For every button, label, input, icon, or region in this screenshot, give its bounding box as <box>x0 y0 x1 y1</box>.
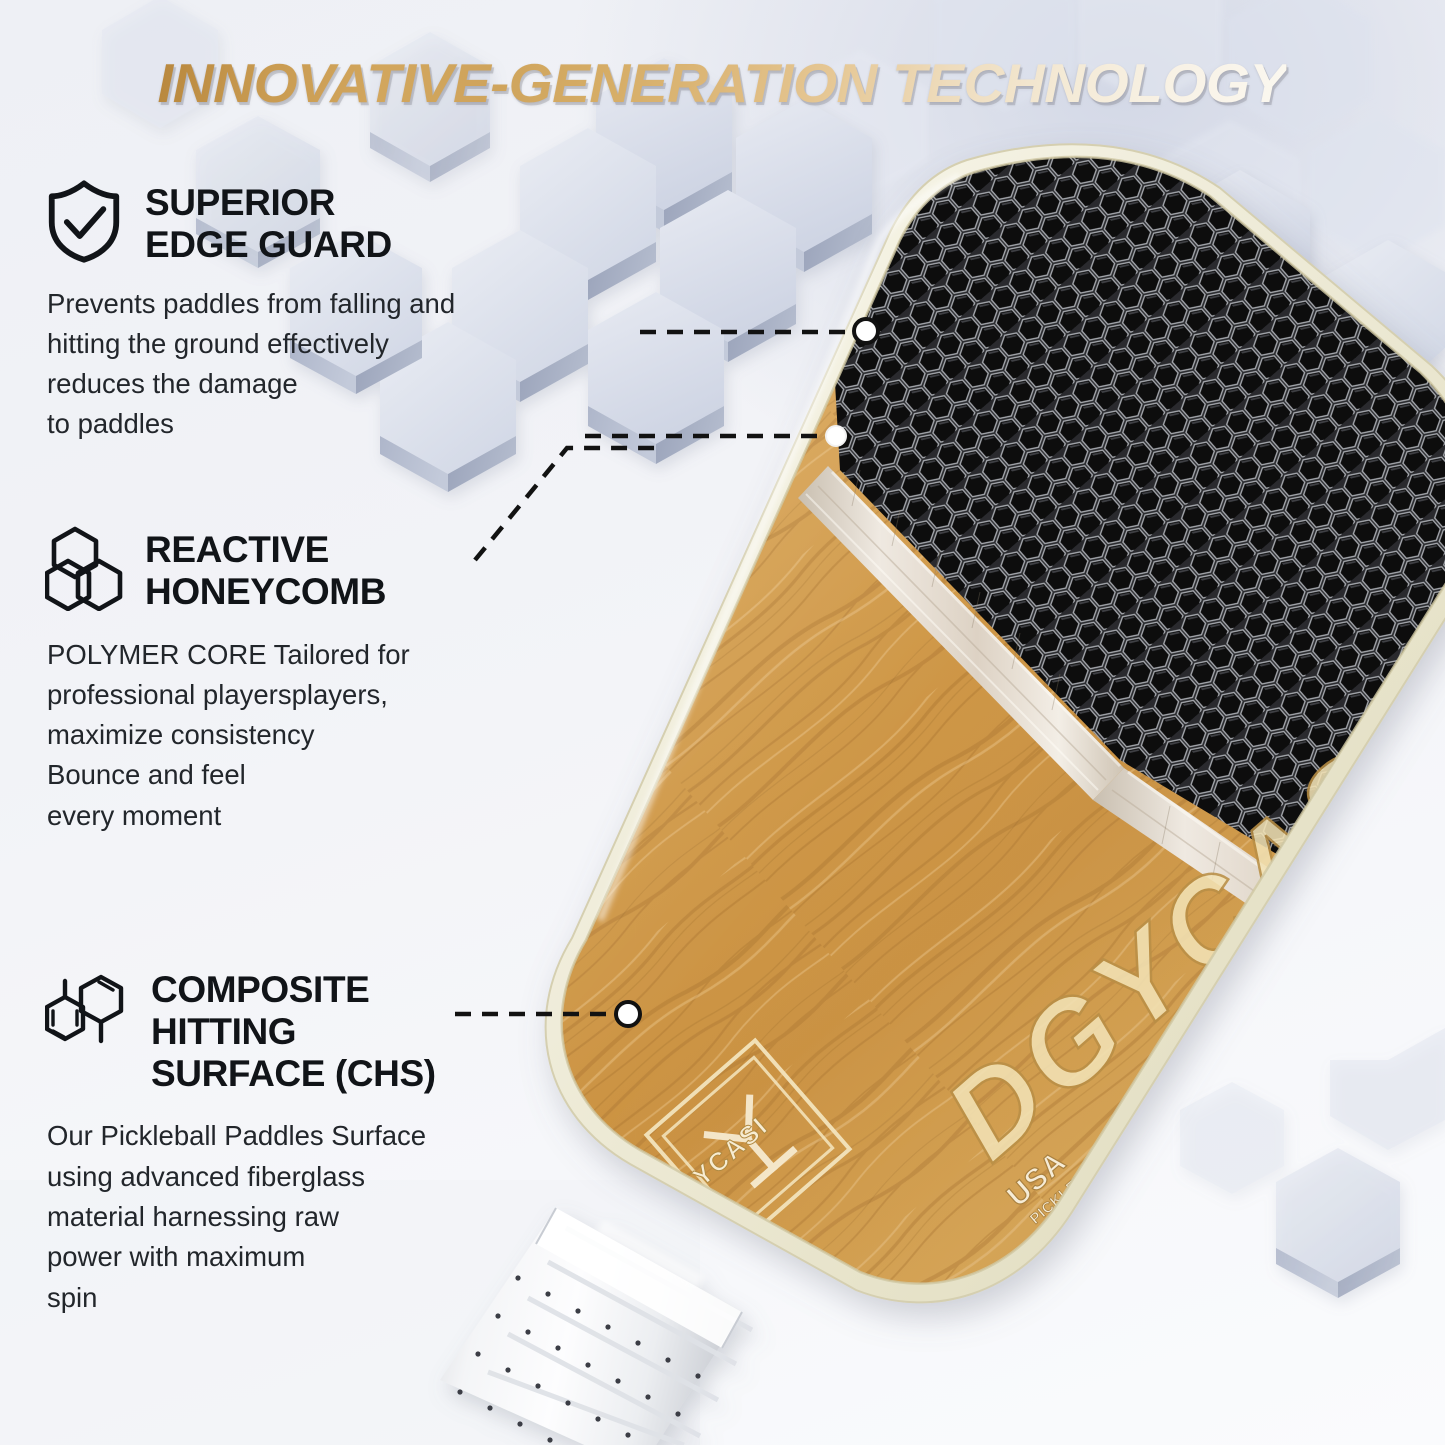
feature-title: REACTIVE HONEYCOMB <box>145 525 386 613</box>
feature-description: Prevents paddles from falling and hittin… <box>47 284 605 445</box>
feature-description-line: using advanced fiberglass <box>47 1157 575 1197</box>
feature-header: REACTIVE HONEYCOMB <box>45 525 565 613</box>
feature-title-line: REACTIVE <box>145 529 386 571</box>
feature-header: SUPERIOR EDGE GUARD <box>45 178 605 266</box>
feature-description-line: power with maximum <box>47 1237 575 1277</box>
feature-description: POLYMER CORE Tailored for professional p… <box>47 635 565 836</box>
page-title: INNOVATIVE-GENERATION TECHNOLOGY <box>158 51 1287 115</box>
feature-header: COMPOSITE HITTING SURFACE (CHS) <box>45 965 575 1094</box>
feature-title-line: COMPOSITE <box>151 969 436 1011</box>
feature-title-line: SUPERIOR <box>145 182 392 224</box>
feature-description-line: reduces the damage <box>47 364 605 404</box>
molecule-icon <box>45 965 129 1057</box>
feature-description-line: Bounce and feel <box>47 755 565 795</box>
feature-title: SUPERIOR EDGE GUARD <box>145 178 392 266</box>
feature-description-line: maximize consistency <box>47 715 565 755</box>
feature-title-line: HITTING <box>151 1011 436 1053</box>
page-title-container: INNOVATIVE-GENERATION TECHNOLOGY <box>0 44 1445 122</box>
honeycomb-icon <box>45 525 123 611</box>
feature-title-line: HONEYCOMB <box>145 571 386 613</box>
feature-description-line: spin <box>47 1278 575 1318</box>
feature-title-line: SURFACE (CHS) <box>151 1053 436 1095</box>
feature-composite-hitting-surface: COMPOSITE HITTING SURFACE (CHS) Our Pick… <box>45 965 575 1318</box>
feature-superior-edge-guard: SUPERIOR EDGE GUARD Prevents paddles fro… <box>45 178 605 445</box>
feature-title-line: EDGE GUARD <box>145 224 392 266</box>
feature-description-line: professional playersplayers, <box>47 675 565 715</box>
feature-description: Our Pickleball Paddles Surface using adv… <box>47 1116 575 1317</box>
feature-reactive-honeycomb: REACTIVE HONEYCOMB POLYMER CORE Tailored… <box>45 525 565 836</box>
feature-description-line: to paddles <box>47 404 605 444</box>
feature-description-line: material harnessing raw <box>47 1197 575 1237</box>
feature-description-line: hitting the ground effectively <box>47 324 605 364</box>
infographic-stage: DGYCASI DGYCASI <box>0 0 1445 1445</box>
feature-description-line: POLYMER CORE Tailored for <box>47 635 565 675</box>
shield-check-icon <box>45 178 123 264</box>
feature-description-line: Prevents paddles from falling and <box>47 284 605 324</box>
paddle-head: DGYCASI DGYCASI <box>500 120 1445 1340</box>
feature-description-line: every moment <box>47 796 565 836</box>
feature-title: COMPOSITE HITTING SURFACE (CHS) <box>151 965 436 1094</box>
feature-description-line: Our Pickleball Paddles Surface <box>47 1116 575 1156</box>
